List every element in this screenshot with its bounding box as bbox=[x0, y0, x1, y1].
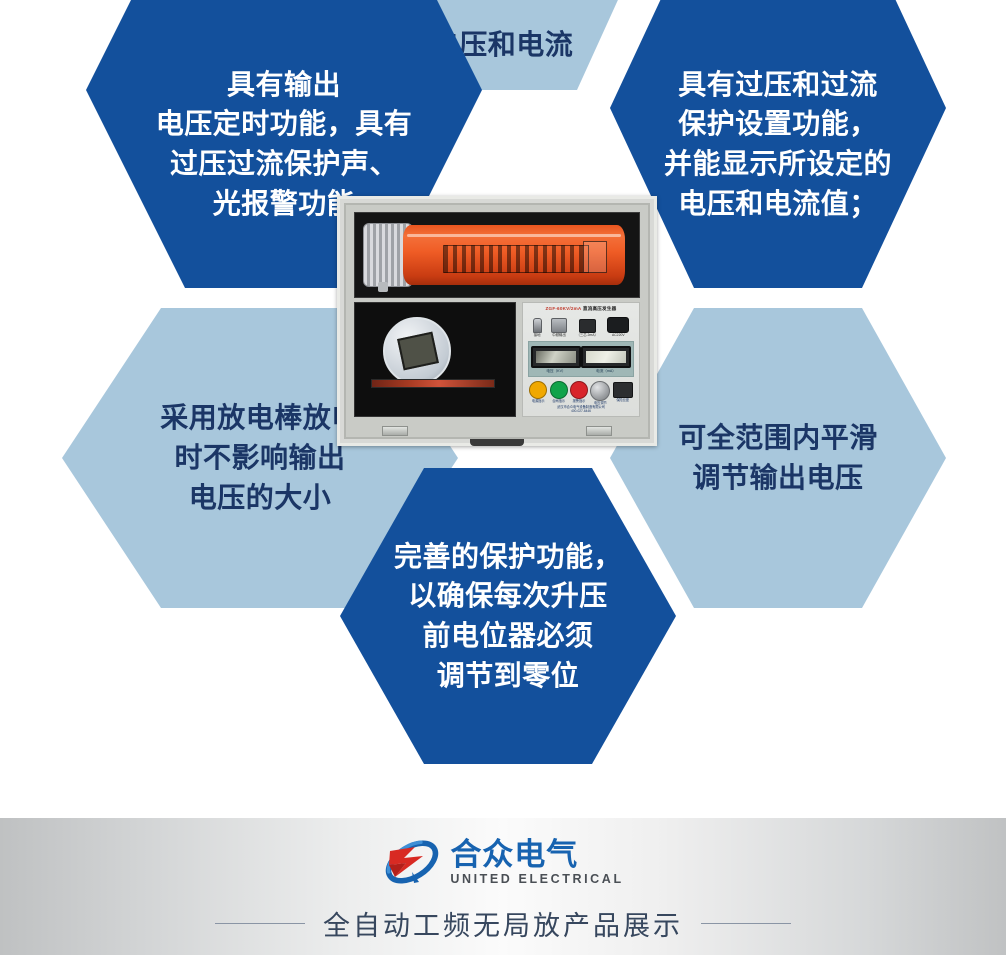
indicator-row: 电源指示 合闸指示 报警指示 电压调节 bbox=[528, 381, 634, 405]
power-lamp-icon bbox=[529, 381, 547, 399]
voltage-meter: 电压（KV） bbox=[531, 346, 581, 374]
current-meter-label: 电流（mA） bbox=[581, 370, 631, 374]
footer-band: 合众电气 UNITED ELECTRICAL 全自动工频无局放产品展示 bbox=[0, 818, 1006, 955]
tagline-rule-left bbox=[215, 923, 305, 924]
fuse-label: 保险丝座 bbox=[613, 399, 633, 402]
ground-post-icon bbox=[533, 318, 542, 333]
current-meter: 电流（mA） bbox=[581, 346, 631, 374]
brand-logo-text: 合众电气 UNITED ELECTRICAL bbox=[450, 839, 623, 886]
current-meter-digits bbox=[586, 351, 626, 363]
fuse-icon bbox=[613, 382, 633, 398]
jack-ground-label: 接地 bbox=[533, 334, 542, 337]
handheld-meter bbox=[383, 317, 451, 385]
jack-ac-inlet-label: AC220V bbox=[607, 334, 629, 337]
lightning-swoosh-logo-icon bbox=[382, 836, 442, 888]
close-lamp-icon bbox=[550, 381, 568, 399]
lower-left-compartment bbox=[354, 302, 516, 417]
close-indicator-button[interactable]: 合闸指示 bbox=[550, 381, 568, 403]
upper-compartment bbox=[354, 212, 640, 298]
hexagon-middle-left-text: 采用放电棒放电 时不影响输出 电压的大小 bbox=[160, 398, 360, 517]
voltage-meter-screen bbox=[531, 346, 581, 368]
hexagon-middle-right-text: 可全范围内平滑 调节输出电压 bbox=[678, 418, 878, 498]
close-indicator-label: 合闸指示 bbox=[550, 400, 568, 403]
control-panel: ZGF-60KV/2mA 直流高压发生器 接地 中频输出 （三芯 2mA） bbox=[522, 302, 640, 417]
panel-footer: 武汉市合众电气设备制造有限公司 400-027-6446 bbox=[523, 406, 639, 414]
hv-cylinder bbox=[403, 225, 625, 285]
power-indicator-button[interactable]: 电源指示 bbox=[529, 381, 547, 403]
case-interior: ZGF-60KV/2mA 直流高压发生器 接地 中频输出 （三芯 2mA） bbox=[344, 203, 650, 439]
cap-connector bbox=[378, 282, 388, 292]
fuse-holder[interactable]: 保险丝座 bbox=[613, 381, 633, 402]
current-meter-screen bbox=[581, 346, 631, 368]
power-indicator-label: 电源指示 bbox=[529, 400, 547, 403]
brand-name-cn: 合众电气 bbox=[450, 839, 578, 870]
discharge-rod bbox=[371, 379, 495, 388]
panel-contact: 400-027-6446 bbox=[523, 410, 639, 414]
jack-hv-output-label: 中频输出 bbox=[551, 334, 567, 337]
cylinder-highlight bbox=[407, 234, 621, 237]
voltage-meter-digits bbox=[536, 351, 576, 363]
brand-name-en: UNITED ELECTRICAL bbox=[450, 873, 623, 886]
meter-lcd bbox=[397, 332, 439, 371]
digital-meters: 电压（KV） 电流（mA） bbox=[528, 341, 634, 377]
footer-tagline-row: 全自动工频无局放产品展示 bbox=[0, 904, 1006, 943]
panel-title-cn: 直流高压发生器 bbox=[583, 306, 617, 311]
alarm-indicator-label: 报警指示 bbox=[570, 400, 588, 403]
alarm-lamp-icon bbox=[570, 381, 588, 399]
jack-hv-output[interactable]: 中频输出 bbox=[551, 318, 567, 337]
infographic-canvas: 电压和电流 具有输出 电压定时功能，具有 过压过流保护声、 光报警功能 具有过压… bbox=[0, 0, 1006, 955]
jack-ac-inlet[interactable]: AC220V bbox=[607, 317, 629, 337]
hexagon-top-right-text: 具有过压和过流 保护设置功能， 并能显示所设定的 电压和电流值； bbox=[664, 65, 892, 224]
cylinder-warning-icon bbox=[583, 241, 607, 273]
case-latch-right bbox=[586, 426, 612, 436]
hexagon-bottom-center-text: 完善的保护功能， 以确保每次升压 前电位器必须 调节到零位 bbox=[394, 537, 622, 696]
knob-icon bbox=[590, 381, 610, 401]
tagline-rule-right bbox=[701, 923, 791, 924]
panel-model-label: ZGF-60KV/2mA bbox=[546, 306, 582, 311]
footer-tagline: 全自动工频无局放产品展示 bbox=[323, 904, 683, 943]
alarm-indicator-button[interactable]: 报警指示 bbox=[570, 381, 588, 403]
jack-three-pin[interactable]: （三芯 2mA） bbox=[576, 319, 597, 337]
case-handle bbox=[470, 439, 524, 446]
jack-three-pin-label: （三芯 2mA） bbox=[576, 334, 597, 337]
connector-row: 接地 中频输出 （三芯 2mA） AC220V bbox=[528, 317, 634, 337]
voltage-adjust-knob[interactable]: 电压调节 bbox=[590, 381, 610, 405]
jack-ground[interactable]: 接地 bbox=[533, 318, 542, 337]
product-photo: ZGF-60KV/2mA 直流高压发生器 接地 中频输出 （三芯 2mA） bbox=[337, 196, 657, 446]
panel-title: ZGF-60KV/2mA 直流高压发生器 bbox=[528, 307, 634, 312]
hexagon-top-right: 具有过压和过流 保护设置功能， 并能显示所设定的 电压和电流值； bbox=[610, 0, 946, 288]
hexagon-middle-right: 可全范围内平滑 调节输出电压 bbox=[610, 308, 946, 608]
case-latch-left bbox=[382, 426, 408, 436]
iec-inlet-icon bbox=[607, 317, 629, 333]
cylinder-label bbox=[443, 245, 590, 273]
three-pin-socket-icon bbox=[579, 319, 596, 333]
hv-output-socket-icon bbox=[551, 318, 567, 333]
voltage-meter-label: 电压（KV） bbox=[531, 370, 581, 374]
brand-logo: 合众电气 UNITED ELECTRICAL bbox=[0, 832, 1006, 892]
